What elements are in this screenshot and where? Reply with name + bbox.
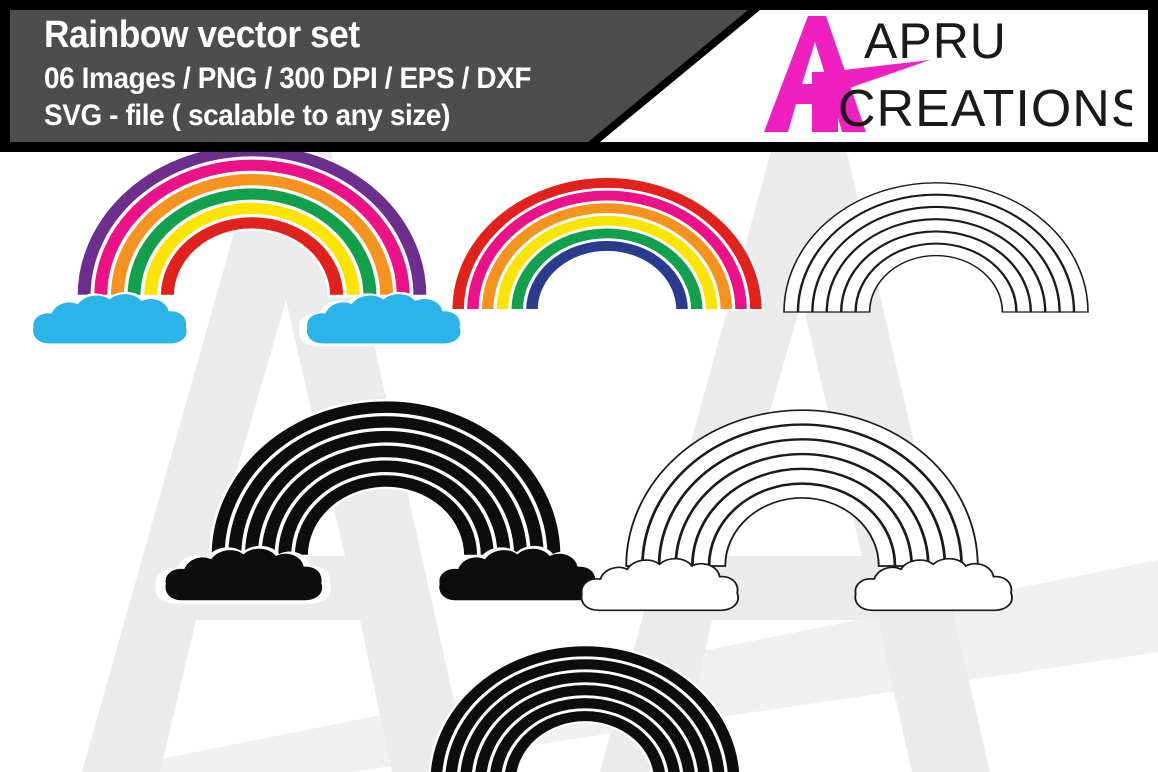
cloud-right — [299, 292, 468, 346]
cloud-right — [429, 546, 604, 604]
rainbow-bands — [784, 183, 1088, 312]
figure-rainbow-color-clouds[interactable] — [25, 144, 468, 346]
figure-rainbow-black-cropped[interactable] — [429, 645, 741, 772]
logo-text-apru: APRU — [864, 13, 1007, 69]
preview-canvas: Rainbow vector set 06 Images / PNG / 300… — [0, 0, 1158, 772]
figure-rainbow-color-plain[interactable] — [451, 177, 763, 310]
page-title: Rainbow vector set — [44, 13, 602, 57]
logo-text-creations: CREATIONS — [838, 80, 1132, 138]
header-banner: Rainbow vector set 06 Images / PNG / 300… — [0, 0, 1158, 152]
rainbow-bands — [626, 410, 978, 566]
banner-subtitle-formats: 06 Images / PNG / 300 DPI / EPS / DXF — [44, 62, 602, 96]
figure-rainbow-outline-clouds[interactable] — [582, 410, 1012, 610]
brand-logo[interactable]: APRU CREATIONS — [752, 8, 1132, 140]
banner-text-block: Rainbow vector set 06 Images / PNG / 300… — [44, 13, 644, 133]
figure-rainbow-black-clouds[interactable] — [155, 400, 604, 603]
figure-rainbow-outline-plain[interactable] — [784, 183, 1088, 312]
rainbow-bands — [76, 144, 428, 296]
rainbow-bands — [451, 177, 763, 310]
rainbow-bands — [210, 400, 562, 556]
rainbow-bands — [429, 645, 741, 772]
banner-subtitle-svg: SVG - file ( scalable to any size) — [44, 99, 602, 133]
cloud-left — [25, 292, 194, 346]
